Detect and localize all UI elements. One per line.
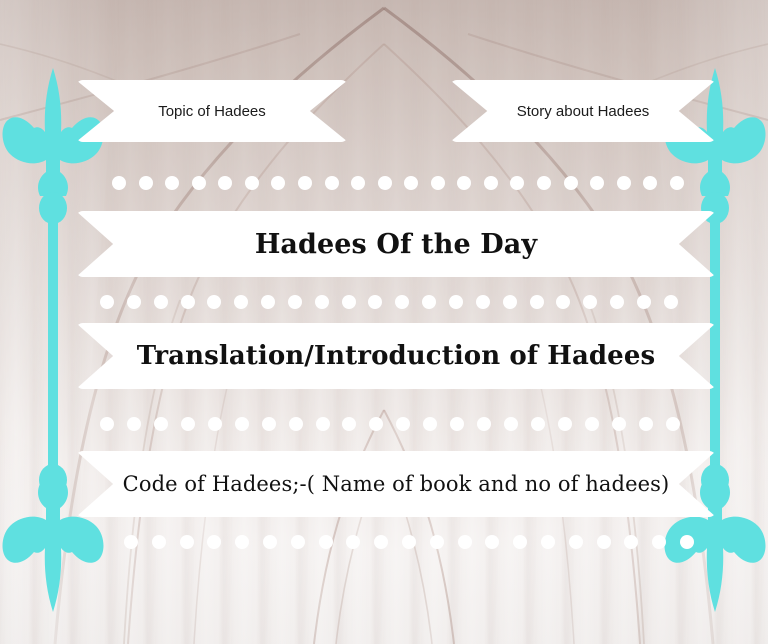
separator-dot xyxy=(504,417,518,431)
separator-dot xyxy=(207,535,221,549)
separator-dot xyxy=(530,295,544,309)
separator-dot xyxy=(541,535,555,549)
banner-translation-introduction[interactable]: Translation/Introduction of Hadees xyxy=(76,323,716,389)
separator-dot xyxy=(637,295,651,309)
separator-dot xyxy=(564,176,578,190)
separator-dot xyxy=(624,535,638,549)
separator-dot xyxy=(263,535,277,549)
separator-dot xyxy=(208,417,222,431)
separator-dot xyxy=(139,176,153,190)
separator-dot xyxy=(503,295,517,309)
separator-dot xyxy=(112,176,126,190)
banner-topic-label: Topic of Hadees xyxy=(158,104,266,119)
dot-separator-4 xyxy=(124,534,694,550)
separator-dot xyxy=(449,295,463,309)
separator-dot xyxy=(351,176,365,190)
separator-dot xyxy=(477,417,491,431)
separator-dot xyxy=(402,535,416,549)
separator-dot xyxy=(513,535,527,549)
banner-topic-of-hadees[interactable]: Topic of Hadees xyxy=(76,80,348,142)
separator-dot xyxy=(369,417,383,431)
separator-dot xyxy=(271,176,285,190)
dot-separator-1 xyxy=(112,175,684,191)
separator-dot xyxy=(234,295,248,309)
separator-dot xyxy=(325,176,339,190)
separator-dot xyxy=(423,417,437,431)
separator-dot xyxy=(218,176,232,190)
banner-code-of-hadees[interactable]: Code of Hadees;-( Name of book and no of… xyxy=(76,451,716,517)
banner-hadees-of-the-day[interactable]: Hadees Of the Day xyxy=(76,211,716,277)
separator-dot xyxy=(556,295,570,309)
separator-dot xyxy=(430,535,444,549)
separator-dot xyxy=(458,535,472,549)
fleur-de-lis-icon xyxy=(0,60,108,620)
separator-dot xyxy=(192,176,206,190)
separator-dot xyxy=(346,535,360,549)
separator-dot xyxy=(680,535,694,549)
separator-dot xyxy=(583,295,597,309)
separator-dot xyxy=(457,176,471,190)
separator-dot xyxy=(235,535,249,549)
separator-dot xyxy=(262,417,276,431)
fleur-de-lis-ornament-left xyxy=(0,60,108,620)
banner-translation-label: Translation/Introduction of Hadees xyxy=(137,343,655,369)
banner-story-about-hadees[interactable]: Story about Hadees xyxy=(450,80,716,142)
separator-dot xyxy=(291,535,305,549)
separator-dot xyxy=(261,295,275,309)
separator-dot xyxy=(585,417,599,431)
separator-dot xyxy=(124,535,138,549)
separator-dot xyxy=(181,295,195,309)
banner-title-label: Hadees Of the Day xyxy=(255,231,537,258)
separator-dot xyxy=(180,535,194,549)
poster-canvas: Topic of Hadees Story about Hadees Hadee… xyxy=(0,0,768,644)
separator-dot xyxy=(597,535,611,549)
separator-dot xyxy=(298,176,312,190)
separator-dot xyxy=(610,295,624,309)
separator-dot xyxy=(245,176,259,190)
separator-dot xyxy=(154,295,168,309)
separator-dot xyxy=(315,295,329,309)
separator-dot xyxy=(127,417,141,431)
banner-code-label: Code of Hadees;-( Name of book and no of… xyxy=(123,474,670,495)
separator-dot xyxy=(617,176,631,190)
separator-dot xyxy=(639,417,653,431)
separator-dot xyxy=(510,176,524,190)
separator-dot xyxy=(100,417,114,431)
separator-dot xyxy=(207,295,221,309)
separator-dot xyxy=(319,535,333,549)
separator-dot xyxy=(664,295,678,309)
separator-dot xyxy=(450,417,464,431)
separator-dot xyxy=(484,176,498,190)
separator-dot xyxy=(431,176,445,190)
separator-dot xyxy=(127,295,141,309)
separator-dot xyxy=(288,295,302,309)
separator-dot xyxy=(558,417,572,431)
separator-dot xyxy=(569,535,583,549)
separator-dot xyxy=(154,417,168,431)
separator-dot xyxy=(396,417,410,431)
separator-dot xyxy=(152,535,166,549)
separator-dot xyxy=(165,176,179,190)
separator-dot xyxy=(378,176,392,190)
separator-dot xyxy=(342,417,356,431)
dot-separator-3 xyxy=(100,416,680,432)
dot-separator-2 xyxy=(100,294,678,310)
separator-dot xyxy=(374,535,388,549)
separator-dot xyxy=(368,295,382,309)
separator-dot xyxy=(612,417,626,431)
separator-dot xyxy=(181,417,195,431)
separator-dot xyxy=(531,417,545,431)
separator-dot xyxy=(485,535,499,549)
separator-dot xyxy=(100,295,114,309)
separator-dot xyxy=(342,295,356,309)
separator-dot xyxy=(537,176,551,190)
separator-dot xyxy=(422,295,436,309)
separator-dot xyxy=(395,295,409,309)
separator-dot xyxy=(590,176,604,190)
separator-dot xyxy=(316,417,330,431)
separator-dot xyxy=(652,535,666,549)
separator-dot xyxy=(404,176,418,190)
separator-dot xyxy=(289,417,303,431)
separator-dot xyxy=(666,417,680,431)
separator-dot xyxy=(643,176,657,190)
separator-dot xyxy=(235,417,249,431)
separator-dot xyxy=(670,176,684,190)
banner-story-label: Story about Hadees xyxy=(517,104,650,119)
separator-dot xyxy=(476,295,490,309)
